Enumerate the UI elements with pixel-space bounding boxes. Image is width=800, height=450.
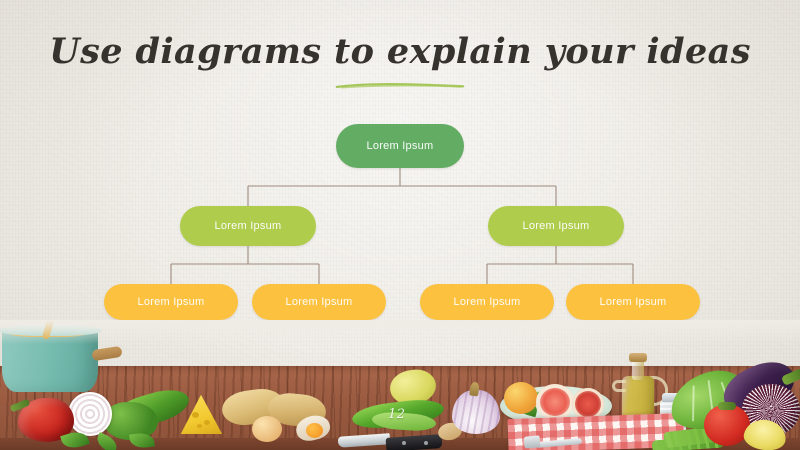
garlic-bulb-icon xyxy=(452,390,500,434)
org-chart-diagram: Lorem Ipsum Lorem Ipsum Lorem Ipsum Lore… xyxy=(0,0,800,340)
diagram-node-level3-d[interactable]: Lorem Ipsum xyxy=(566,284,700,320)
diagram-node-root[interactable]: Lorem Ipsum xyxy=(336,124,464,168)
node-label: Lorem Ipsum xyxy=(286,296,353,308)
diagram-node-level3-b[interactable]: Lorem Ipsum xyxy=(252,284,386,320)
oil-bottle-neck xyxy=(632,360,644,380)
oil-bottle-cork xyxy=(629,353,647,362)
onion-slice-icon xyxy=(68,392,112,436)
kitchen-knife-handle xyxy=(386,434,443,450)
knife-rivet xyxy=(402,441,406,445)
tomato-stem xyxy=(718,402,736,410)
diagram-node-level3-a[interactable]: Lorem Ipsum xyxy=(104,284,238,320)
egg-icon xyxy=(252,416,282,442)
node-label: Lorem Ipsum xyxy=(454,296,521,308)
garlic-tip xyxy=(469,381,480,396)
node-label: Lorem Ipsum xyxy=(600,296,667,308)
knife-rivet xyxy=(424,441,428,445)
orange-icon xyxy=(504,382,538,414)
fork-icon xyxy=(524,435,541,448)
diagram-node-level3-c[interactable]: Lorem Ipsum xyxy=(420,284,554,320)
leaf-vein xyxy=(692,385,695,421)
node-label: Lorem Ipsum xyxy=(215,220,282,232)
food-decoration-band: 12 xyxy=(0,320,800,450)
grapefruit-half-icon xyxy=(536,384,574,420)
tomato-icon xyxy=(704,404,750,446)
cooking-pot-icon xyxy=(2,330,98,392)
node-label: Lorem Ipsum xyxy=(367,140,434,152)
diagram-node-level2-b[interactable]: Lorem Ipsum xyxy=(488,206,624,246)
pot-handle xyxy=(91,346,122,362)
band-top-fade xyxy=(0,320,800,344)
diagram-node-level2-a[interactable]: Lorem Ipsum xyxy=(180,206,316,246)
node-label: Lorem Ipsum xyxy=(138,296,205,308)
cheese-hole xyxy=(197,424,202,428)
cheese-hole xyxy=(192,412,199,418)
slide-number: 12 xyxy=(388,407,406,422)
egg-yolk-icon xyxy=(306,423,323,438)
cheese-hole xyxy=(204,420,210,425)
node-label: Lorem Ipsum xyxy=(523,220,590,232)
slide-canvas: Use diagrams to explain your ideas xyxy=(0,0,800,450)
